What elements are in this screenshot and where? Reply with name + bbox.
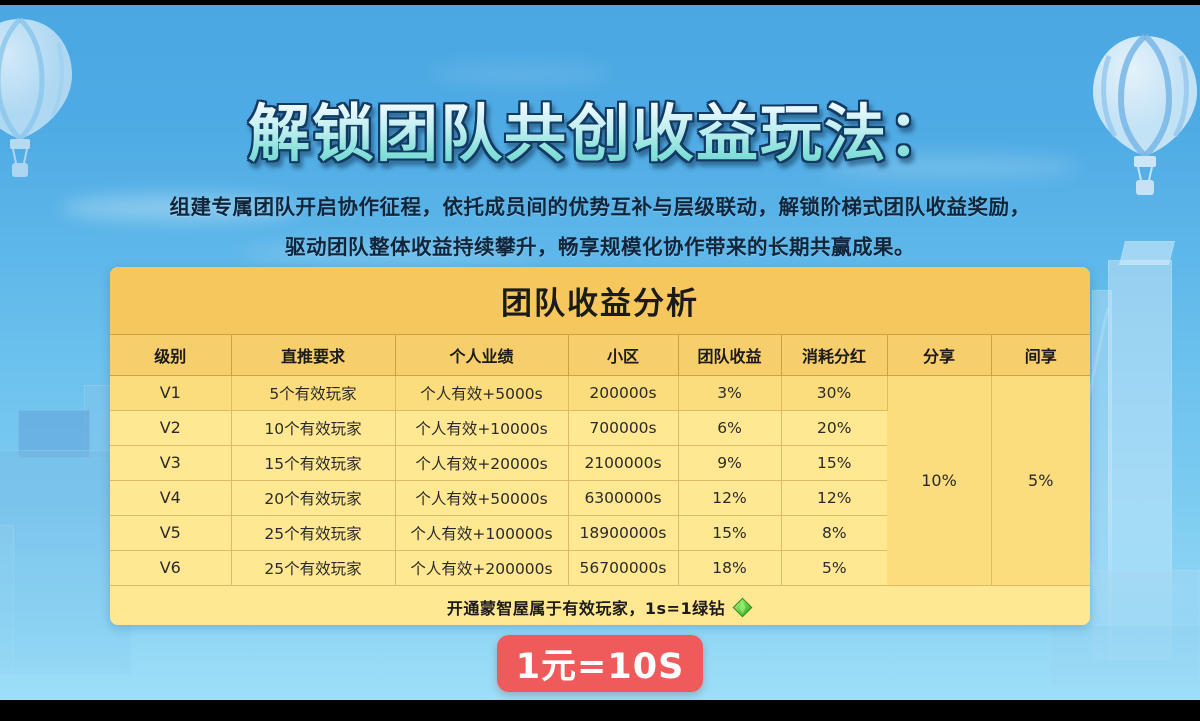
team-earnings-card: 团队收益分析 级别 直推要求 个人业绩 小区 团队收益 消耗分红 分享 间享	[110, 267, 1090, 625]
column-header-direct: 直推要求	[231, 335, 395, 375]
table-header-row: 级别 直推要求 个人业绩 小区 团队收益 消耗分红 分享 间享	[110, 335, 1090, 375]
cell-personal: 个人有效+100000s	[395, 515, 568, 550]
cell-consume: 8%	[781, 515, 887, 550]
cell-personal: 个人有效+5000s	[395, 375, 568, 410]
cell-district: 6300000s	[568, 480, 678, 515]
cell-direct: 25个有效玩家	[231, 550, 395, 585]
cell-team: 12%	[678, 480, 781, 515]
promo-banner-background: 解锁团队共创收益玩法： 组建专属团队开启协作征程，依托成员间的优势互补与层级联动…	[0, 5, 1200, 700]
cell-direct: 25个有效玩家	[231, 515, 395, 550]
cell-district: 200000s	[568, 375, 678, 410]
cell-team: 6%	[678, 410, 781, 445]
cell-consume: 12%	[781, 480, 887, 515]
cell-direct: 5个有效玩家	[231, 375, 395, 410]
cell-level: V3	[110, 445, 231, 480]
footnote-content: 开通蒙智屋属于有效玩家，1s=1绿钻	[447, 595, 753, 619]
column-header-personal: 个人业绩	[395, 335, 568, 375]
card-title-bar: 团队收益分析	[110, 267, 1090, 335]
cell-level: V4	[110, 480, 231, 515]
cell-district: 700000s	[568, 410, 678, 445]
cell-consume: 15%	[781, 445, 887, 480]
cell-consume: 20%	[781, 410, 887, 445]
cell-personal: 个人有效+20000s	[395, 445, 568, 480]
column-header-indirect: 间享	[991, 335, 1090, 375]
column-header-level: 级别	[110, 335, 231, 375]
cell-team: 9%	[678, 445, 781, 480]
cell-share-merged: 10%	[887, 375, 991, 585]
column-header-consume: 消耗分红	[781, 335, 887, 375]
exchange-rate-label: 1元=10S	[516, 638, 685, 689]
table-footnote-row: 开通蒙智屋属于有效玩家，1s=1绿钻	[110, 585, 1090, 625]
cell-direct: 20个有效玩家	[231, 480, 395, 515]
column-header-share: 分享	[887, 335, 991, 375]
cloud-decor	[430, 65, 610, 83]
cell-direct: 10个有效玩家	[231, 410, 395, 445]
cell-team: 15%	[678, 515, 781, 550]
letterbox-bottom	[0, 700, 1200, 721]
exchange-rate-badge[interactable]: 1元=10S	[497, 635, 703, 692]
cell-personal: 个人有效+50000s	[395, 480, 568, 515]
cell-team: 3%	[678, 375, 781, 410]
green-diamond-icon	[732, 597, 753, 618]
team-earnings-table: 级别 直推要求 个人业绩 小区 团队收益 消耗分红 分享 间享 V1 5个有效玩…	[110, 335, 1090, 625]
cell-district: 56700000s	[568, 550, 678, 585]
cell-indirect-merged: 5%	[991, 375, 1090, 585]
card-title-text: 团队收益分析	[501, 278, 699, 323]
column-header-team: 团队收益	[678, 335, 781, 375]
cell-level: V6	[110, 550, 231, 585]
footnote-text: 开通蒙智屋属于有效玩家，1s=1绿钻	[447, 595, 725, 619]
cell-direct: 15个有效玩家	[231, 445, 395, 480]
subtitle-line-2: 驱动团队整体收益持续攀升，畅享规模化协作带来的长期共赢成果。	[0, 227, 1200, 267]
cell-level: V1	[110, 375, 231, 410]
cell-district: 18900000s	[568, 515, 678, 550]
letterbox-top	[0, 0, 1200, 5]
table-row: V1 5个有效玩家 个人有效+5000s 200000s 3% 30% 10% …	[110, 375, 1090, 410]
cell-district: 2100000s	[568, 445, 678, 480]
page-title: 解锁团队共创收益玩法：	[0, 83, 1200, 173]
cell-level: V5	[110, 515, 231, 550]
cell-level: V2	[110, 410, 231, 445]
cell-personal: 个人有效+10000s	[395, 410, 568, 445]
subtitle-line-1: 组建专属团队开启协作征程，依托成员间的优势互补与层级联动，解锁阶梯式团队收益奖励…	[0, 187, 1200, 227]
cell-personal: 个人有效+200000s	[395, 550, 568, 585]
cell-consume: 30%	[781, 375, 887, 410]
cell-team: 18%	[678, 550, 781, 585]
cell-consume: 5%	[781, 550, 887, 585]
page-subtitle: 组建专属团队开启协作征程，依托成员间的优势互补与层级联动，解锁阶梯式团队收益奖励…	[0, 187, 1200, 267]
column-header-district: 小区	[568, 335, 678, 375]
headline-text: 解锁团队共创收益玩法：	[248, 83, 952, 173]
table-body: V1 5个有效玩家 个人有效+5000s 200000s 3% 30% 10% …	[110, 375, 1090, 625]
